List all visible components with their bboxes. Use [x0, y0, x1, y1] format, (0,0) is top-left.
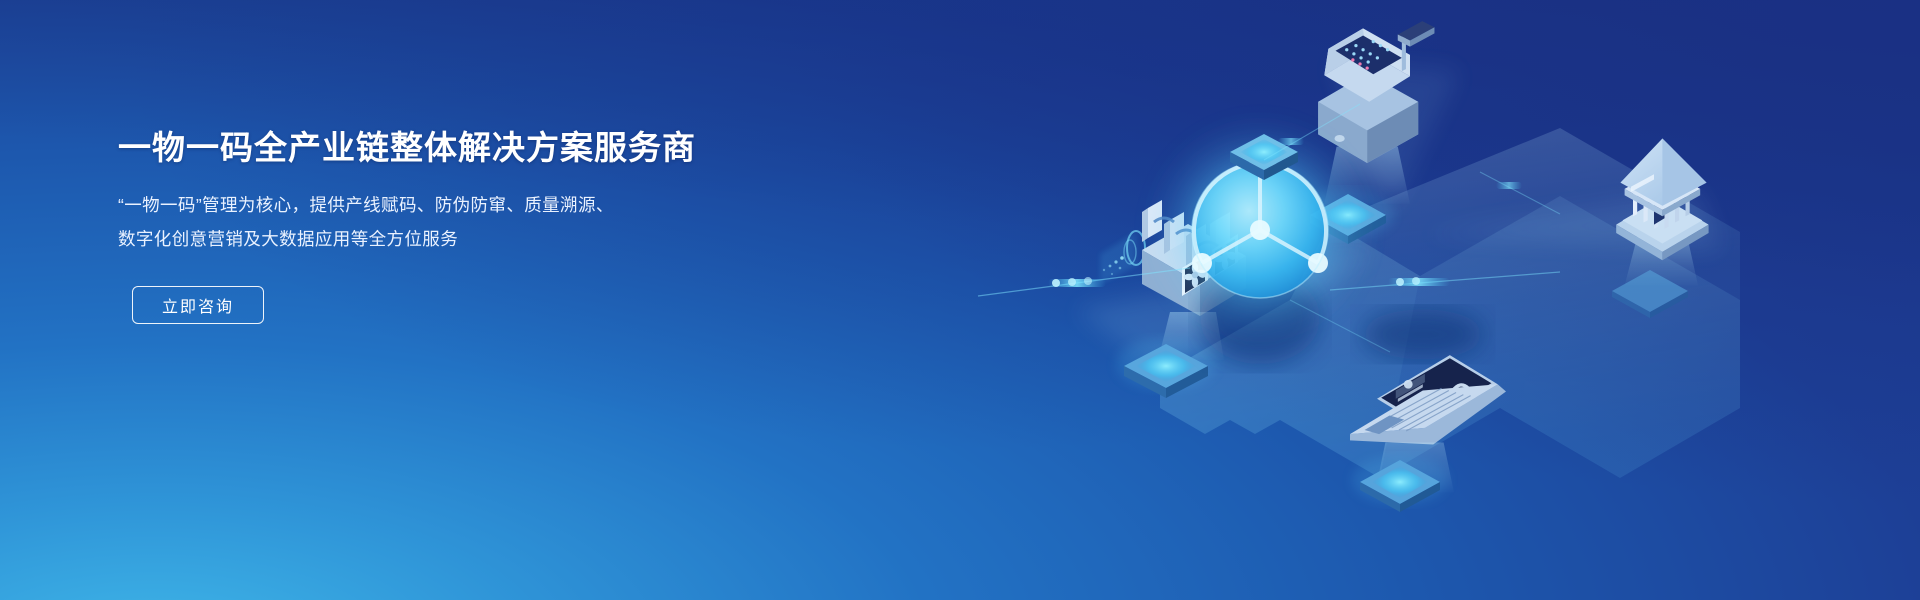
subtitle-line-2: 数字化创意营销及大数据应用等全方位服务: [118, 222, 838, 256]
hero-copy: 一物一码全产业链整体解决方案服务商 “一物一码”管理为核心，提供产线赋码、防伪防…: [118, 128, 838, 324]
hero-illustration: [860, 0, 1920, 600]
hero-banner: 一物一码全产业链整体解决方案服务商 “一物一码”管理为核心，提供产线赋码、防伪防…: [0, 0, 1920, 600]
subtitle-line-1: “一物一码”管理为核心，提供产线赋码、防伪防窜、质量溯源、: [118, 188, 838, 222]
pedestal-laptop: [1352, 456, 1448, 512]
consult-now-button[interactable]: 立即咨询: [132, 286, 264, 324]
page-title: 一物一码全产业链整体解决方案服务商: [118, 128, 838, 168]
